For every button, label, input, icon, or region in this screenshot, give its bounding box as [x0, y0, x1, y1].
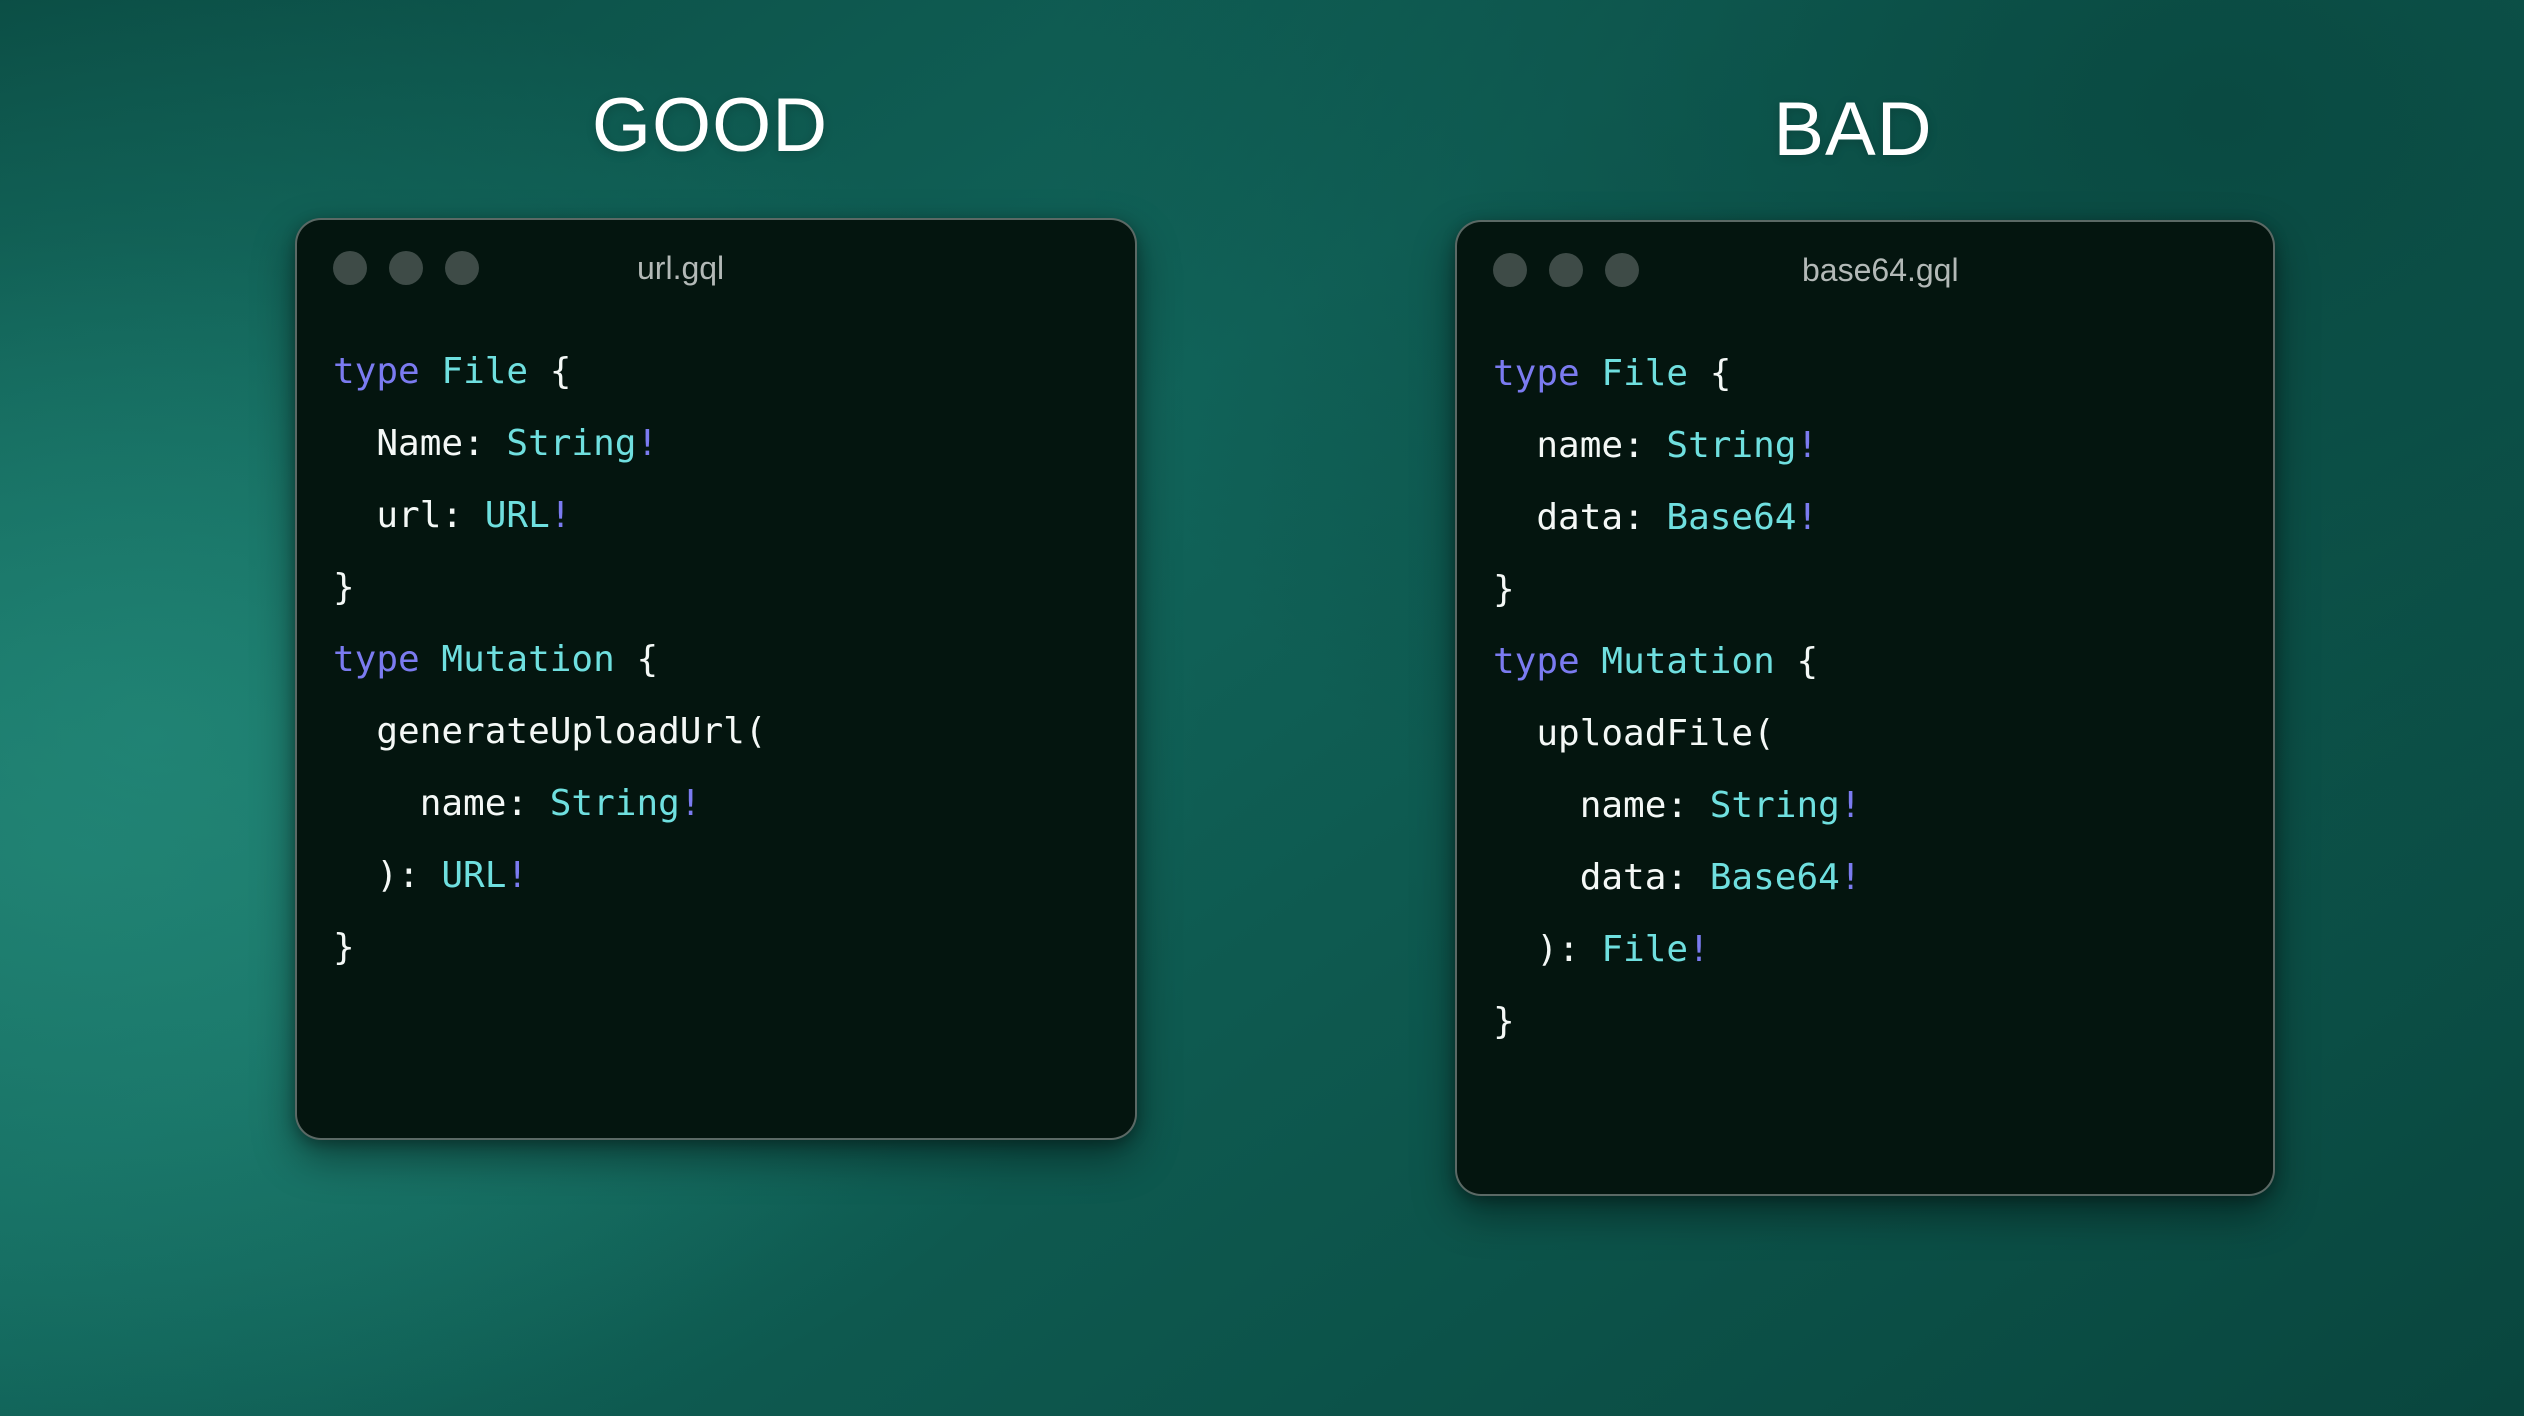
code-line: ): File!: [1493, 914, 2273, 986]
code-token-plain: {: [1688, 353, 1731, 394]
code-line: type File {: [1493, 338, 2273, 410]
code-token-plain: [1580, 641, 1602, 682]
code-token-bang: !: [550, 495, 572, 536]
code-token-type: URL: [485, 495, 550, 536]
code-token-type: File: [1601, 353, 1688, 394]
code-token-plain: uploadFile(: [1493, 713, 1775, 754]
code-token-bang: !: [506, 855, 528, 896]
heading-good: GOOD: [592, 88, 828, 164]
maximize-dot-icon[interactable]: [1605, 253, 1639, 287]
code-token-bang: !: [1840, 857, 1862, 898]
code-line: type Mutation {: [333, 624, 1135, 696]
code-line: data: Base64!: [1493, 842, 2273, 914]
code-token-plain: }: [1493, 1001, 1515, 1042]
code-token-bang: !: [1796, 425, 1818, 466]
code-window-bad: base64.gql type File { name: String! dat…: [1455, 220, 2275, 1196]
close-dot-icon[interactable]: [333, 251, 367, 285]
code-token-plain: }: [333, 927, 355, 968]
code-token-plain: [420, 639, 442, 680]
code-line: type File {: [333, 336, 1135, 408]
code-token-type: File: [441, 351, 528, 392]
code-token-plain: }: [333, 567, 355, 608]
code-line: name: String!: [1493, 770, 2273, 842]
code-token-type: Mutation: [1601, 641, 1774, 682]
code-line: name: String!: [333, 768, 1135, 840]
code-token-plain: generateUploadUrl(: [333, 711, 766, 752]
code-token-kw: type: [1493, 641, 1580, 682]
code-token-bang: !: [1840, 785, 1862, 826]
code-line: type Mutation {: [1493, 626, 2273, 698]
code-token-plain: ):: [333, 855, 441, 896]
code-token-type: File: [1601, 929, 1688, 970]
code-token-plain: data:: [1493, 857, 1710, 898]
code-block-good: type File { Name: String! url: URL!}type…: [297, 316, 1135, 984]
code-token-bang: !: [636, 423, 658, 464]
minimize-dot-icon[interactable]: [1549, 253, 1583, 287]
code-token-plain: ):: [1493, 929, 1601, 970]
code-token-plain: name:: [1493, 785, 1710, 826]
code-token-plain: {: [528, 351, 571, 392]
code-token-plain: [1580, 353, 1602, 394]
code-token-type: String: [1710, 785, 1840, 826]
code-token-bang: !: [680, 783, 702, 824]
code-line: generateUploadUrl(: [333, 696, 1135, 768]
traffic-light-dots: [1493, 222, 1639, 318]
code-line: Name: String!: [333, 408, 1135, 480]
code-line: }: [1493, 554, 2273, 626]
code-token-plain: Name:: [333, 423, 506, 464]
code-token-kw: type: [333, 639, 420, 680]
code-token-bang: !: [1688, 929, 1710, 970]
code-line: data: Base64!: [1493, 482, 2273, 554]
window-titlebar: url.gql: [297, 220, 1135, 316]
maximize-dot-icon[interactable]: [445, 251, 479, 285]
code-token-plain: {: [615, 639, 658, 680]
code-token-plain: {: [1775, 641, 1818, 682]
heading-bad: BAD: [1773, 92, 1932, 168]
code-window-good: url.gql type File { Name: String! url: U…: [295, 218, 1137, 1140]
code-token-kw: type: [333, 351, 420, 392]
code-token-type: Base64: [1710, 857, 1840, 898]
code-token-plain: name:: [1493, 425, 1666, 466]
code-token-type: Mutation: [441, 639, 614, 680]
window-filename: url.gql: [637, 220, 724, 316]
code-token-type: URL: [441, 855, 506, 896]
window-titlebar: base64.gql: [1457, 222, 2273, 318]
code-token-plain: data:: [1493, 497, 1666, 538]
code-line: }: [333, 912, 1135, 984]
traffic-light-dots: [333, 220, 479, 316]
code-token-plain: url:: [333, 495, 485, 536]
code-token-plain: }: [1493, 569, 1515, 610]
code-line: ): URL!: [333, 840, 1135, 912]
code-token-plain: name:: [333, 783, 550, 824]
code-token-kw: type: [1493, 353, 1580, 394]
code-line: }: [333, 552, 1135, 624]
code-token-bang: !: [1796, 497, 1818, 538]
code-token-plain: [420, 351, 442, 392]
code-line: name: String!: [1493, 410, 2273, 482]
minimize-dot-icon[interactable]: [389, 251, 423, 285]
code-token-type: String: [506, 423, 636, 464]
code-block-bad: type File { name: String! data: Base64!}…: [1457, 318, 2273, 1058]
code-line: }: [1493, 986, 2273, 1058]
code-line: uploadFile(: [1493, 698, 2273, 770]
close-dot-icon[interactable]: [1493, 253, 1527, 287]
code-token-type: String: [1666, 425, 1796, 466]
code-token-type: Base64: [1666, 497, 1796, 538]
slide-canvas: GOOD BAD url.gql type File { Name: Strin…: [0, 0, 2524, 1416]
code-token-type: String: [550, 783, 680, 824]
code-line: url: URL!: [333, 480, 1135, 552]
window-filename: base64.gql: [1802, 222, 1959, 318]
